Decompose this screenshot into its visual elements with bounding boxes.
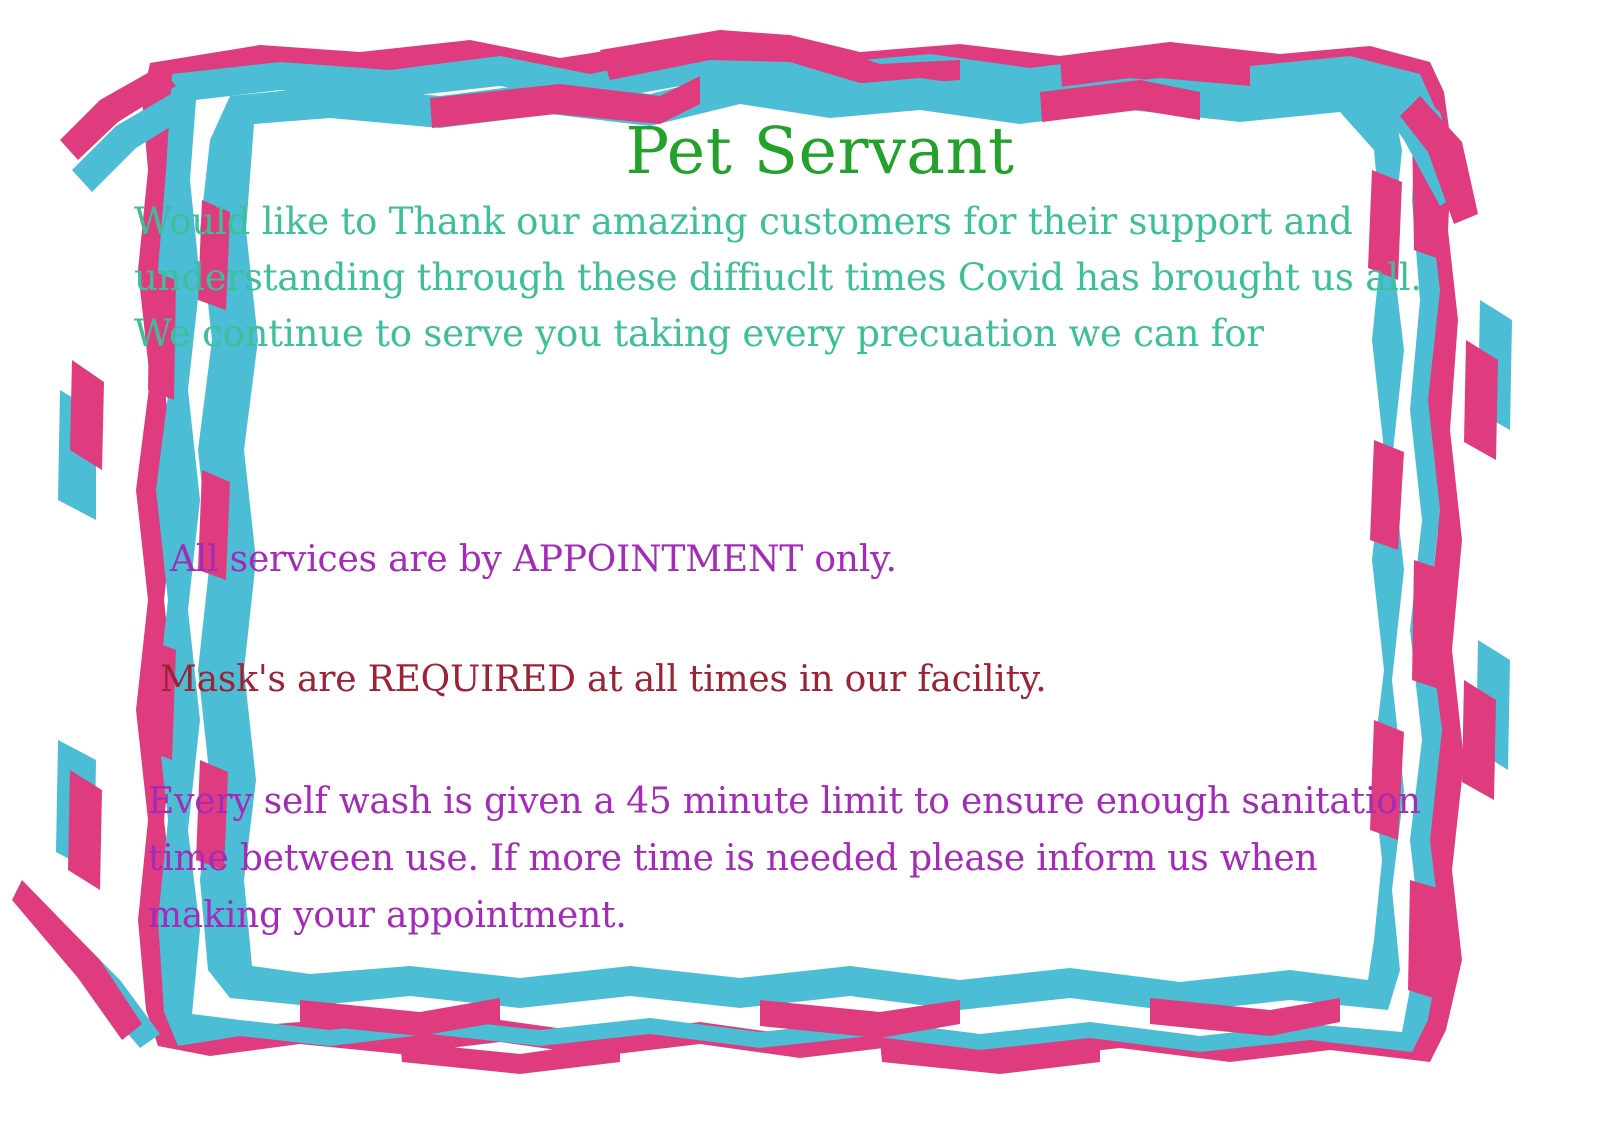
self-wash-notice: Every self wash is given a 45 minute lim…: [148, 773, 1448, 944]
poster-content: Pet Servant Would like to Thank our amaz…: [120, 118, 1490, 988]
mask-notice: Mask's are REQUIRED at all times in our …: [160, 651, 1440, 708]
page-title: Pet Servant: [120, 118, 1490, 186]
intro-paragraph: Would like to Thank our amazing customer…: [120, 194, 1474, 362]
poster-canvas: Pet Servant Would like to Thank our amaz…: [0, 0, 1600, 1132]
appointment-notice: All services are by APPOINTMENT only.: [170, 531, 1430, 588]
